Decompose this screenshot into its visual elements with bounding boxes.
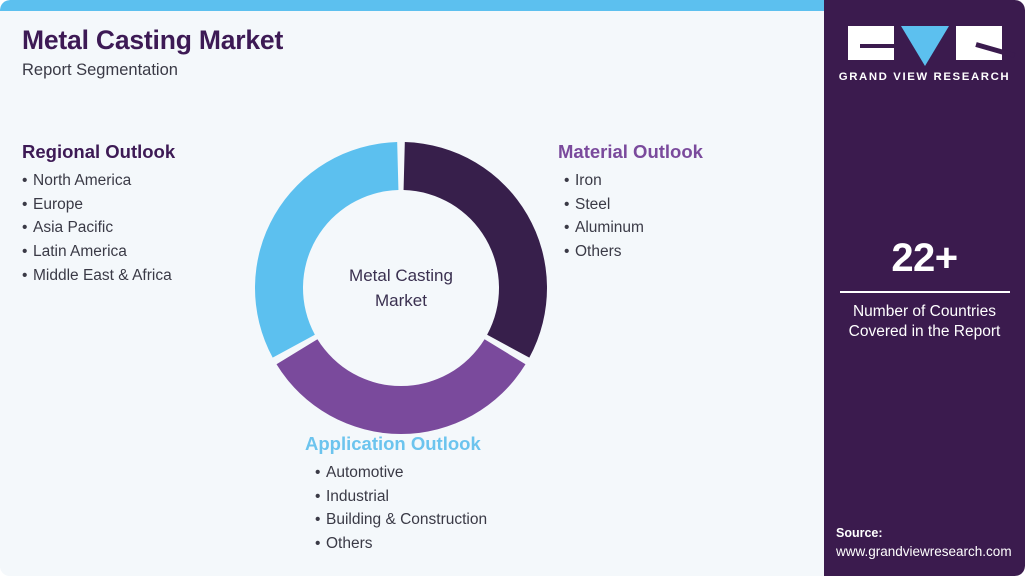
material-outlook-list: •Iron •Steel •Aluminum •Others: [558, 169, 703, 263]
list-item: •Asia Pacific: [22, 216, 175, 240]
list-item: •Building & Construction: [315, 508, 487, 532]
list-item-label: Aluminum: [575, 219, 644, 236]
material-outlook-block: Material Outlook •Iron •Steel •Aluminum …: [558, 141, 703, 264]
donut-segments: [255, 142, 547, 434]
list-item: •Aluminum: [564, 216, 703, 240]
gvr-logo: GRAND VIEW RESEARCH: [824, 26, 1025, 83]
list-item-label: Steel: [575, 196, 610, 213]
stat-label: Number of Countries Covered in the Repor…: [824, 302, 1025, 342]
source-url[interactable]: www.grandviewresearch.com: [836, 542, 1025, 561]
list-item: •Middle East & Africa: [22, 264, 175, 288]
list-item: •Europe: [22, 193, 175, 217]
list-item-label: Iron: [575, 172, 602, 189]
main-panel: Metal Casting Market Report Segmentation…: [0, 11, 824, 576]
list-item-label: Latin America: [33, 243, 127, 260]
bullet-icon: •: [22, 216, 33, 240]
list-item-label: Industrial: [326, 488, 389, 505]
logo-r-icon: [956, 26, 1002, 60]
list-item-label: Building & Construction: [326, 511, 487, 528]
list-item-label: Middle East & Africa: [33, 267, 172, 284]
stat-block: 22+ Number of Countries Covered in the R…: [824, 238, 1025, 342]
list-item: •Latin America: [22, 240, 175, 264]
regional-outlook-heading: Regional Outlook: [22, 141, 175, 163]
title-block: Metal Casting Market Report Segmentation: [22, 25, 283, 81]
source-label: Source:: [836, 525, 1025, 542]
list-item-label: Europe: [33, 196, 83, 213]
list-item-label: Others: [575, 243, 622, 260]
stat-value: 22+: [824, 238, 1025, 278]
bullet-icon: •: [564, 193, 575, 217]
bullet-icon: •: [564, 169, 575, 193]
bullet-icon: •: [22, 193, 33, 217]
logo-g-icon: [848, 26, 894, 60]
bullet-icon: •: [315, 485, 326, 509]
list-item: •Others: [564, 240, 703, 264]
list-item: •Automotive: [315, 461, 487, 485]
source-block: Source: www.grandviewresearch.com: [836, 525, 1025, 561]
page-subtitle: Report Segmentation: [22, 61, 283, 81]
bullet-icon: •: [22, 240, 33, 264]
list-item: •Steel: [564, 193, 703, 217]
list-item: •North America: [22, 169, 175, 193]
bullet-icon: •: [564, 216, 575, 240]
top-accent-strip: [0, 0, 824, 11]
list-item: •Industrial: [315, 485, 487, 509]
donut-segment: [255, 142, 398, 358]
regional-outlook-block: Regional Outlook •North America •Europe …: [22, 141, 175, 287]
stat-divider: [840, 291, 1010, 293]
stat-label-line-1: Number of Countries: [824, 302, 1025, 322]
bullet-icon: •: [22, 264, 33, 288]
application-outlook-block: Application Outlook •Automotive •Industr…: [305, 433, 487, 556]
regional-outlook-list: •North America •Europe •Asia Pacific •La…: [22, 169, 175, 287]
bullet-icon: •: [564, 240, 575, 264]
donut-segment: [277, 339, 526, 434]
stat-label-line-2: Covered in the Report: [824, 322, 1025, 342]
logo-marks: [848, 26, 1002, 62]
bullet-icon: •: [315, 508, 326, 532]
segmentation-donut-chart: Metal Casting Market: [255, 142, 547, 434]
brand-sidebar: GRAND VIEW RESEARCH 22+ Number of Countr…: [824, 0, 1025, 576]
bullet-icon: •: [22, 169, 33, 193]
list-item-label: Others: [326, 535, 373, 552]
application-outlook-heading: Application Outlook: [305, 433, 487, 455]
logo-v-triangle-icon: [901, 26, 949, 66]
bullet-icon: •: [315, 532, 326, 556]
donut-segment: [404, 142, 547, 358]
material-outlook-heading: Material Outlook: [558, 141, 703, 163]
page-title: Metal Casting Market: [22, 25, 283, 55]
list-item-label: Asia Pacific: [33, 219, 113, 236]
list-item: •Others: [315, 532, 487, 556]
list-item-label: North America: [33, 172, 131, 189]
infographic-canvas: Metal Casting Market Report Segmentation…: [0, 0, 1025, 576]
list-item-label: Automotive: [326, 464, 404, 481]
bullet-icon: •: [315, 461, 326, 485]
donut-svg: [255, 142, 547, 434]
logo-wordmark: GRAND VIEW RESEARCH: [839, 71, 1011, 83]
application-outlook-list: •Automotive •Industrial •Building & Cons…: [305, 461, 487, 555]
list-item: •Iron: [564, 169, 703, 193]
